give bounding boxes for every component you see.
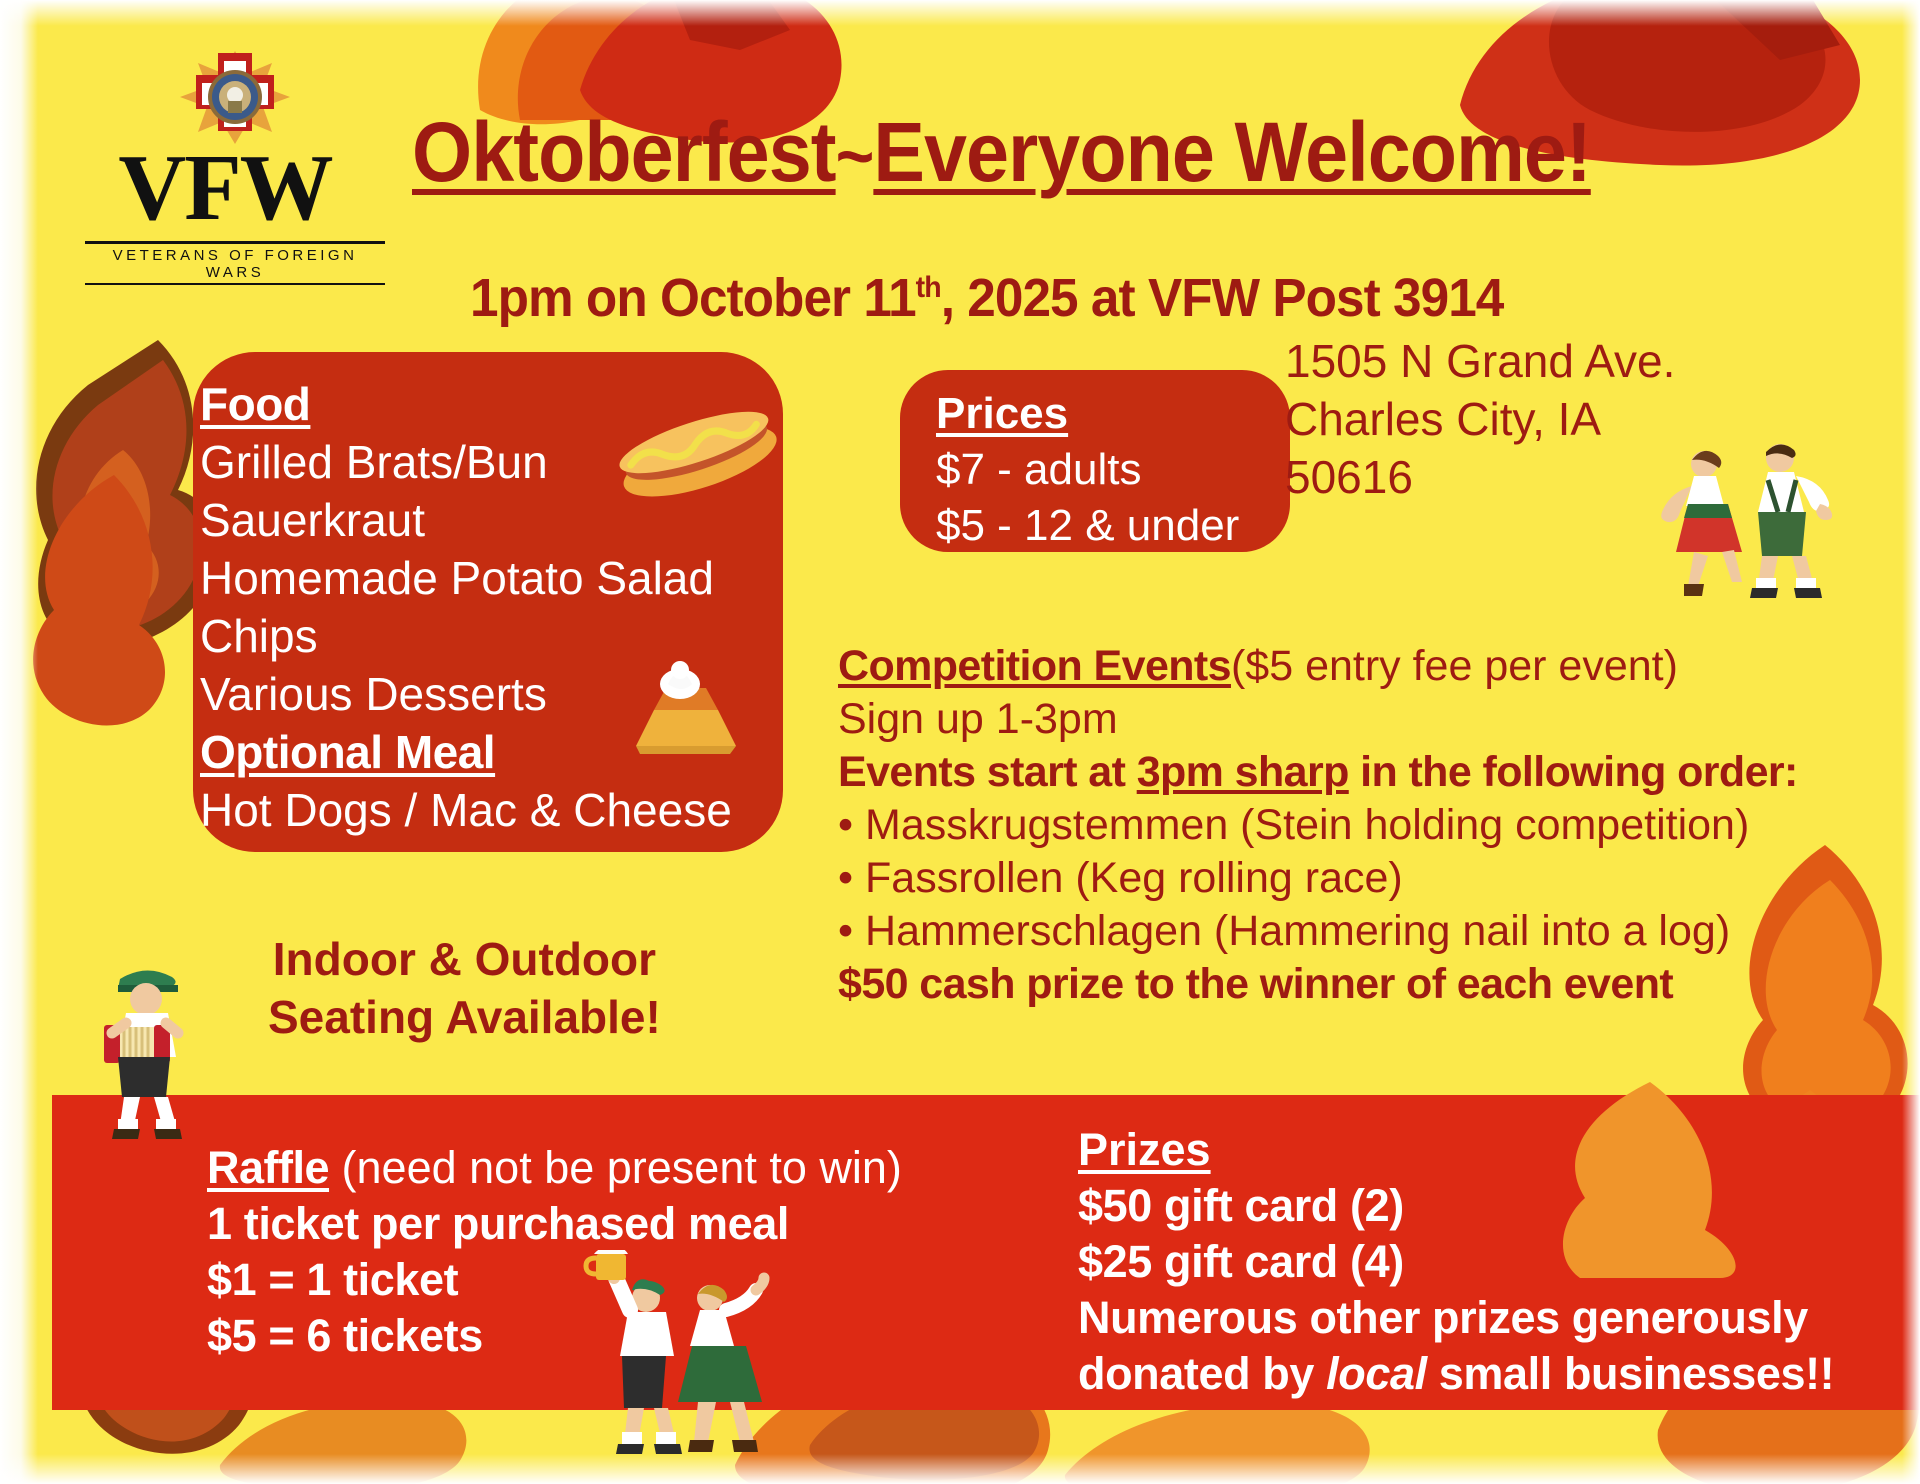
vfw-logo: VFW VETERANS OF FOREIGN WARS (75, 45, 395, 260)
vfw-cross-emblem-icon (170, 45, 300, 150)
page-edge-left (0, 0, 38, 1484)
vfw-subtitle: VETERANS OF FOREIGN WARS (85, 241, 385, 285)
price-line: $5 - 12 & under (936, 498, 1239, 554)
raffle-heading: Raffle (207, 1142, 329, 1193)
address-line-3: 50616 (1285, 448, 1675, 506)
accordion-player-illustration (80, 955, 210, 1150)
page-edge-right (1902, 0, 1920, 1484)
donated-emphasis: local (1326, 1348, 1427, 1399)
prices-heading: Prices (936, 386, 1239, 442)
competition-cash-prize: $50 cash prize to the winner of each eve… (838, 958, 1798, 1011)
vfw-wordmark: VFW (75, 140, 375, 236)
bullet-icon: • (838, 907, 853, 955)
raffle-heading-row: Raffle (need not be present to win) (207, 1140, 902, 1196)
address-line-2: Charles City, IA (1285, 390, 1675, 448)
prize-donated-line-1: Numerous other prizes generously (1078, 1290, 1834, 1346)
optional-meal-item: Hot Dogs / Mac & Cheese (200, 781, 800, 839)
event-datetime: 1pm on October 11th, 2025 at VFW Post 39… (470, 258, 1503, 328)
bullet-icon: • (838, 854, 853, 902)
subtitle-ordinal: th (916, 271, 941, 304)
raffle-line: 1 ticket per purchased meal (207, 1196, 902, 1252)
beer-toasting-couple-illustration (580, 1250, 780, 1470)
competition-event-item: • Masskrugstemmen (Stein holding competi… (838, 799, 1798, 852)
page-edge-bottom (0, 1454, 1920, 1484)
competition-event-label: Fassrollen (Keg rolling race) (865, 854, 1403, 902)
title-welcome: Everyone Welcome! (873, 105, 1590, 199)
competition-event-item: • Hammerschlagen (Hammering nail into a … (838, 905, 1798, 958)
page-title: Oktoberfest~Everyone Welcome! (412, 106, 1591, 203)
competition-events-section: Competition Events($5 entry fee per even… (838, 640, 1798, 1011)
raffle-line: $1 = 1 ticket (207, 1252, 902, 1308)
start-pre: Events start at (838, 748, 1137, 796)
address-line-1: 1505 N Grand Ave. (1285, 332, 1675, 390)
subtitle-pre: 1pm on October 11 (470, 268, 916, 328)
price-line: $7 - adults (936, 442, 1239, 498)
competition-event-label: Hammerschlagen (Hammering nail into a lo… (865, 907, 1730, 955)
oktoberfest-flyer: VFW VETERANS OF FOREIGN WARS Oktoberfest… (0, 0, 1920, 1484)
pie-slice-icon (618, 650, 758, 775)
title-tilde: ~ (836, 117, 874, 197)
prizes-section: Prizes $50 gift card (2) $25 gift card (… (1078, 1122, 1834, 1402)
bullet-icon: • (838, 801, 853, 849)
page-edge-top (0, 0, 1920, 26)
competition-heading: Competition Events (838, 642, 1231, 690)
seating-line-1: Indoor & Outdoor (268, 930, 661, 988)
raffle-section: Raffle (need not be present to win) 1 ti… (207, 1140, 902, 1364)
autumn-leaf-decoration (14, 470, 194, 730)
prices-list: Prices $7 - adults $5 - 12 & under (936, 386, 1239, 554)
competition-signup: Sign up 1-3pm (838, 693, 1798, 746)
donated-mid: donated by (1078, 1348, 1326, 1399)
donated-post: small businesses!! (1427, 1348, 1835, 1399)
competition-heading-row: Competition Events($5 entry fee per even… (838, 640, 1798, 693)
raffle-note: (need not be present to win) (342, 1142, 902, 1193)
venue-address: 1505 N Grand Ave. Charles City, IA 50616 (1285, 332, 1675, 506)
prize-line: $50 gift card (2) (1078, 1178, 1834, 1234)
food-item: Homemade Potato Salad (200, 549, 800, 607)
competition-entry-fee-note: ($5 entry fee per event) (1231, 642, 1678, 690)
hot-dog-icon (610, 400, 785, 510)
prizes-heading: Prizes (1078, 1122, 1834, 1178)
competition-event-item: • Fassrollen (Keg rolling race) (838, 852, 1798, 905)
prize-line: $25 gift card (4) (1078, 1234, 1834, 1290)
start-emphasis: 3pm sharp (1137, 748, 1349, 796)
competition-event-label: Masskrugstemmen (Stein holding competiti… (865, 801, 1749, 849)
prize-donated-line-2: donated by local small businesses!! (1078, 1346, 1834, 1402)
competition-start-time: Events start at 3pm sharp in the followi… (838, 746, 1798, 799)
subtitle-post: , 2025 at VFW Post 3914 (941, 268, 1504, 328)
seating-note: Indoor & Outdoor Seating Available! (268, 930, 661, 1046)
start-post: in the following order: (1349, 748, 1798, 796)
raffle-line: $5 = 6 tickets (207, 1308, 902, 1364)
seating-line-2: Seating Available! (268, 988, 661, 1046)
title-main: Oktoberfest (412, 105, 836, 199)
